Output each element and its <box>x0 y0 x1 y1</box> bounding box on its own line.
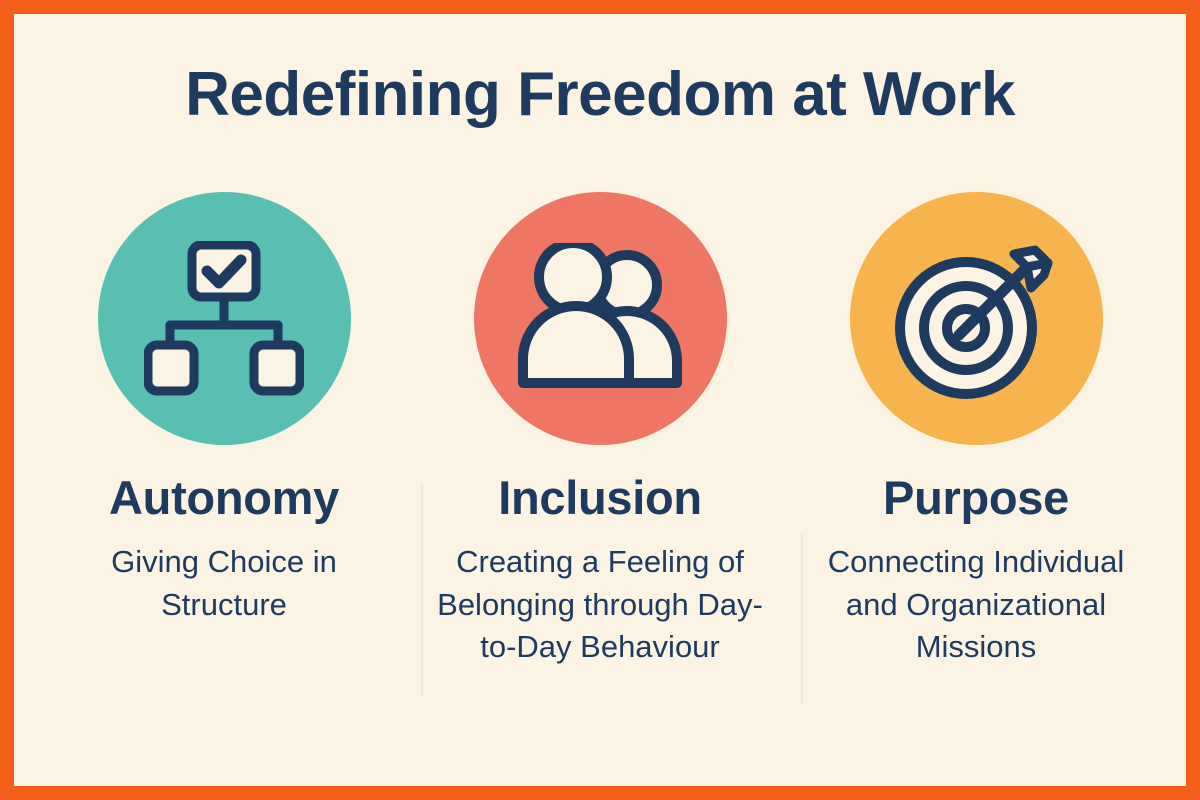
pillars-row: Autonomy Giving Choice in Structure <box>14 192 1186 669</box>
column-divider-1 <box>421 484 423 696</box>
inclusion-icon-circle <box>474 192 727 445</box>
pillar-heading-purpose: Purpose <box>883 473 1069 522</box>
pillar-description-autonomy: Giving Choice in Structure <box>59 541 389 626</box>
pillar-description-purpose: Connecting Individual and Organizational… <box>811 541 1141 668</box>
pillar-autonomy: Autonomy Giving Choice in Structure <box>36 192 412 626</box>
poster-canvas: Redefining Freedom at Work <box>14 14 1186 786</box>
page-title: Redefining Freedom at Work <box>14 62 1186 127</box>
pillar-description-inclusion: Creating a Feeling of Belonging through … <box>435 541 765 668</box>
org-chart-check-icon <box>144 241 304 397</box>
autonomy-icon-circle <box>98 192 351 445</box>
two-people-icon <box>515 243 685 395</box>
column-divider-2 <box>801 534 803 704</box>
purpose-icon-circle <box>850 192 1103 445</box>
infographic-poster: Redefining Freedom at Work <box>0 0 1200 800</box>
pillar-inclusion: Inclusion Creating a Feeling of Belongin… <box>412 192 788 669</box>
pillar-heading-autonomy: Autonomy <box>109 473 339 522</box>
pillar-heading-inclusion: Inclusion <box>498 473 702 522</box>
pillar-purpose: Purpose Connecting Individual and Organi… <box>788 192 1164 669</box>
target-arrow-icon <box>890 236 1062 402</box>
